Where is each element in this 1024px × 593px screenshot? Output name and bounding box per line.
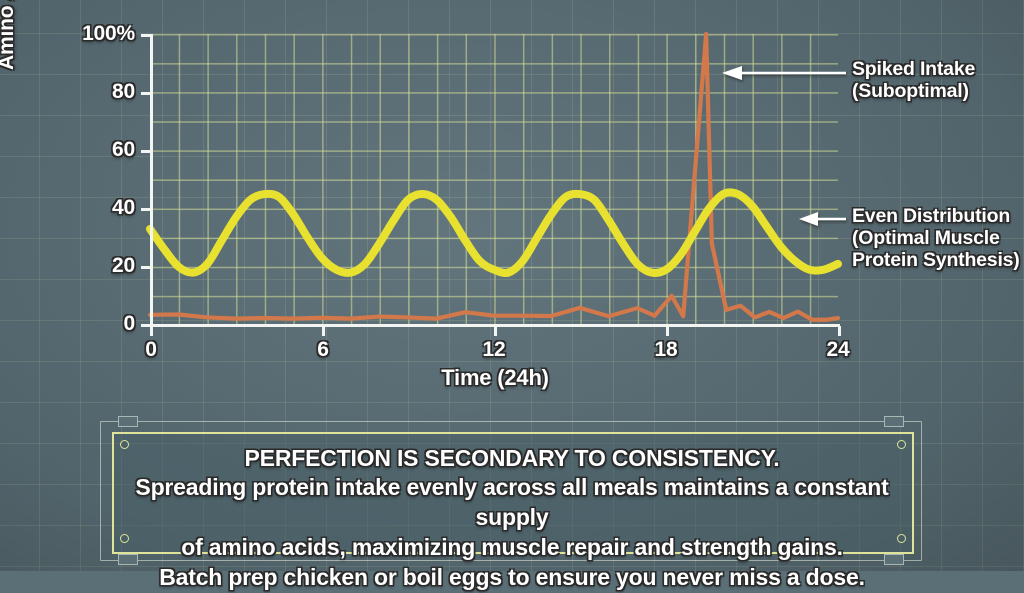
x-tick-label-24: 24 — [808, 338, 868, 362]
x-axis-title: Time (24h) — [330, 365, 660, 391]
annotation-arrow-even — [796, 206, 848, 232]
x-tick-24 — [838, 326, 841, 336]
x-tick-6 — [322, 326, 325, 336]
y-axis-spine — [150, 34, 153, 326]
x-tick-0 — [150, 326, 153, 336]
annotation-even-line2: (Optimal Muscle — [852, 228, 1020, 250]
frame-notch-top-right — [884, 416, 904, 427]
caption-title: PERFECTION IS SECONDARY TO CONSISTENCY. — [120, 444, 904, 473]
x-tick-label-18: 18 — [636, 338, 696, 362]
y-tick-60 — [141, 150, 150, 153]
caption-panel: PERFECTION IS SECONDARY TO CONSISTENCY. … — [100, 418, 924, 563]
y-tick-label-20: 20 — [30, 254, 135, 278]
annotation-label-spiked: Spiked Intake (Suboptimal) — [852, 59, 975, 103]
y-tick-label-40: 40 — [30, 196, 135, 220]
y-tick-40 — [141, 208, 150, 211]
y-tick-100 — [141, 34, 150, 37]
annotation-arrow-spiked — [718, 60, 848, 86]
y-axis-title: Amino Acid Availability — [0, 0, 19, 70]
y-tick-label-0: 0 — [30, 312, 135, 336]
caption-line-2: of amino acids, maximizing muscle repair… — [120, 533, 904, 563]
x-tick-12 — [494, 326, 497, 336]
caption-line-1: Spreading protein intake evenly across a… — [120, 473, 904, 533]
y-tick-label-100: 100% — [30, 22, 135, 46]
y-tick-label-80: 80 — [30, 80, 135, 104]
annotation-even-line1: Even Distribution — [852, 206, 1020, 228]
x-tick-18 — [666, 326, 669, 336]
y-tick-80 — [141, 92, 150, 95]
x-tick-label-6: 6 — [293, 338, 353, 362]
series-line-even-distribution — [150, 192, 838, 273]
x-tick-label-0: 0 — [121, 338, 181, 362]
y-tick-0 — [141, 324, 150, 327]
y-tick-label-60: 60 — [30, 138, 135, 162]
annotation-label-even: Even Distribution (Optimal Muscle Protei… — [852, 206, 1020, 271]
frame-notch-top-left — [118, 416, 138, 427]
annotation-spiked-line1: Spiked Intake — [852, 59, 975, 81]
annotation-spiked-line2: (Suboptimal) — [852, 81, 975, 103]
chart-figure: 100% 80 60 40 20 0 0 6 12 18 24 Amino Ac… — [0, 0, 1024, 410]
caption-line-3: Batch prep chicken or boil eggs to ensur… — [120, 563, 904, 593]
x-tick-label-12: 12 — [464, 338, 524, 362]
annotation-even-line3: Protein Synthesis) — [852, 250, 1020, 272]
y-tick-20 — [141, 266, 150, 269]
